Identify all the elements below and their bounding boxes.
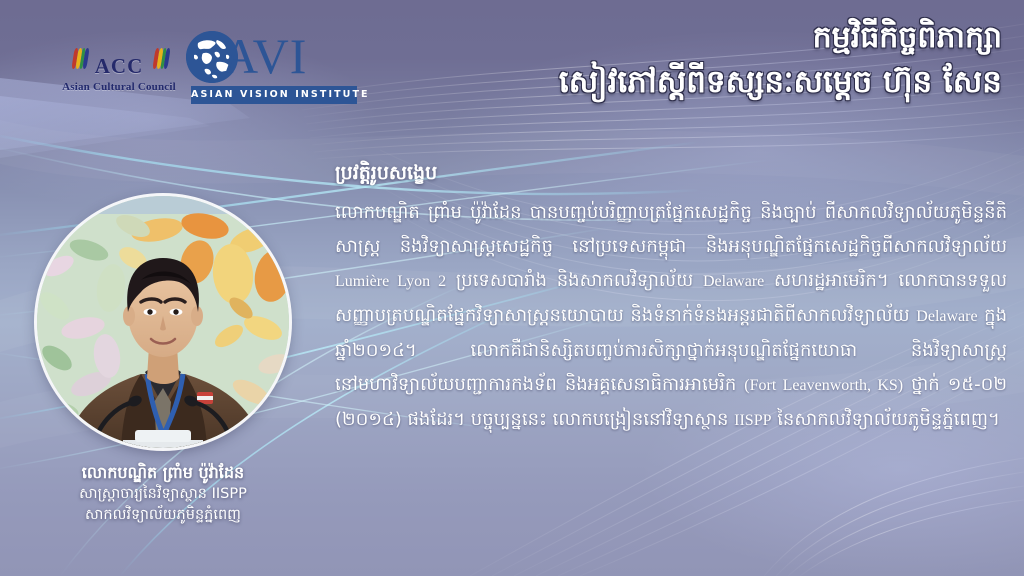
latin-run: IISPP bbox=[734, 412, 771, 429]
biography-heading: ប្រវត្តិរូបសង្ខេប bbox=[335, 158, 1007, 188]
khmer-run: ប្រទេសបារាំង និងសាកលវិទ្យាល័យ bbox=[446, 270, 703, 291]
avi-wordmark: AVI bbox=[222, 28, 307, 84]
speaker-caption: លោកបណ្ឌិត ព្រាំម ប៉ូវ៉ាដែន សាស្ត្រាចារ្យ… bbox=[30, 462, 296, 526]
khmer-run: នៃសាកលវិទ្យាល័យភូមិន្ទភ្នំពេញ។ bbox=[772, 409, 1000, 430]
biography-paragraph: លោកបណ្ឌិត ព្រាំម ប៉ូវ៉ាដែន បានបញ្ចប់បរិញ… bbox=[335, 196, 1007, 438]
avi-main: AVI bbox=[186, 28, 360, 84]
title-line-1: កម្មវិធីកិច្ចពិភាក្សា bbox=[362, 16, 1002, 60]
header-titles: កម្មវិធីកិច្ចពិភាក្សា សៀវភៅស្តីពីទស្សនៈស… bbox=[362, 16, 1002, 104]
khmer-run: លោកបណ្ឌិត ព្រាំម ប៉ូវ៉ាដែន បានបញ្ចប់បរិញ… bbox=[335, 202, 1007, 257]
speaker-role-line-1: សាស្ត្រាចារ្យនៃវិទ្យាស្ថាន IISPP bbox=[30, 484, 296, 505]
speaker-photo-block: លោកបណ្ឌិត ព្រាំម ប៉ូវ៉ាដែន សាស្ត្រាចារ្យ… bbox=[30, 196, 296, 526]
biography-block: ប្រវត្តិរូបសង្ខេប លោកបណ្ឌិត ព្រាំម ប៉ូវ៉… bbox=[335, 158, 1007, 438]
latin-run: Delaware bbox=[703, 273, 764, 290]
latin-run: Lumière Lyon 2 bbox=[335, 273, 446, 290]
avi-logo[interactable]: AVI ASIAN VISION INSTITUTE bbox=[186, 28, 360, 110]
speaker-name: លោកបណ្ឌិត ព្រាំម ប៉ូវ៉ាដែន bbox=[30, 462, 296, 484]
acc-mark: ACC bbox=[56, 46, 182, 80]
presentation-slide: ACC Asian Cultural Council bbox=[0, 0, 1024, 576]
latin-run: (Fort Leavenworth, KS) bbox=[744, 377, 903, 394]
avi-subtitle: ASIAN VISION INSTITUTE bbox=[191, 86, 357, 104]
acc-logo[interactable]: ACC Asian Cultural Council bbox=[56, 46, 182, 108]
speaker-role-line-2: សាកលវិទ្យាល័យភូមិន្ទភ្នំពេញ bbox=[30, 505, 296, 526]
acc-subtitle: Asian Cultural Council bbox=[56, 81, 182, 93]
speaker-avatar bbox=[37, 196, 289, 448]
title-line-2: សៀវភៅស្តីពីទស្សនៈសម្តេច ហ៊ុន សែន bbox=[362, 60, 1002, 104]
latin-run: Delaware bbox=[916, 308, 977, 325]
